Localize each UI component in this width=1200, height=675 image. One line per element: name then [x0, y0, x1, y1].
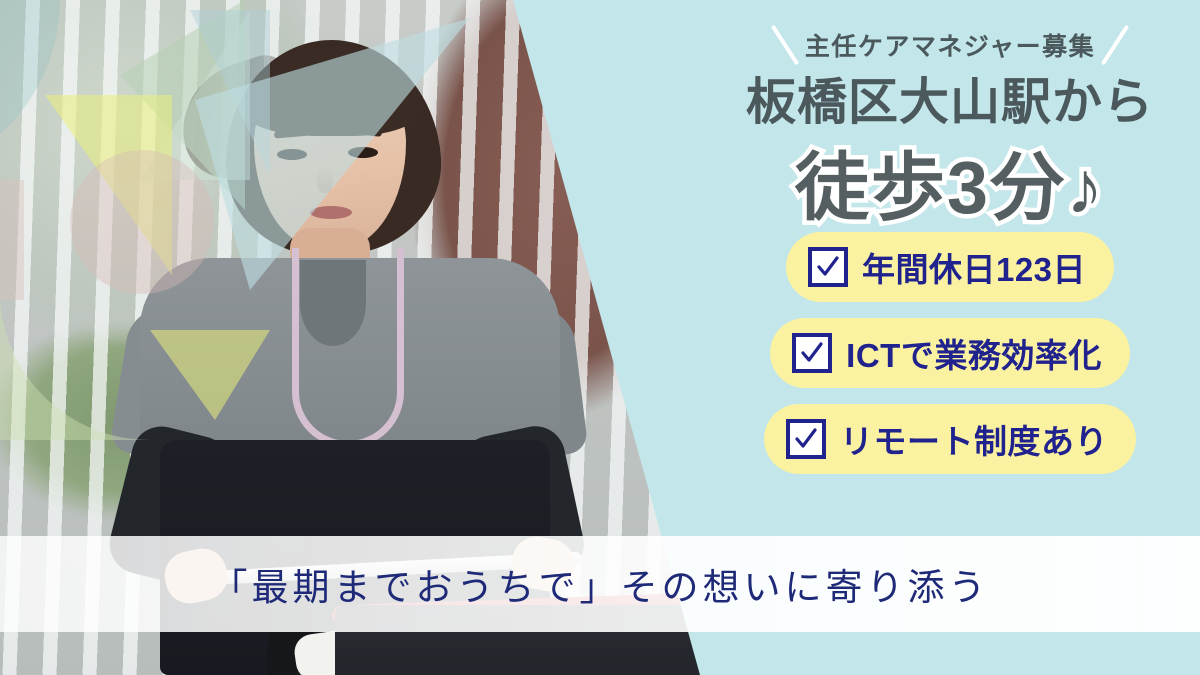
benefit-badge-label: リモート制度あり — [840, 415, 1108, 463]
benefit-badge[interactable]: 年間休日123日 — [786, 232, 1114, 302]
eye-right — [348, 147, 378, 158]
mouth — [310, 206, 352, 219]
eyebrow-text: 主任ケアマネジャー募集 — [805, 27, 1095, 63]
slash-left-icon — [771, 25, 799, 66]
checkbox-checked-icon — [808, 247, 848, 287]
checkbox-checked-icon — [792, 333, 832, 373]
lanyard-cord — [292, 248, 404, 448]
nose — [317, 165, 333, 193]
benefit-badge-label: 年間休日123日 — [862, 243, 1086, 291]
benefit-badge[interactable]: リモート制度あり — [764, 404, 1136, 474]
recruitment-banner: 主任ケアマネジャー募集 板橋区大山駅から 徒歩3分♪ 年間休日123日 — [0, 0, 1200, 675]
slash-right-icon — [1101, 25, 1129, 66]
benefit-badge[interactable]: ICTで業務効率化 — [770, 318, 1130, 388]
tagline-text: 「最期までおうちで」その想いに寄り添う — [211, 557, 990, 611]
headline-line-1: 板橋区大山駅から — [700, 62, 1200, 134]
tagline-band: 「最期までおうちで」その想いに寄り添う — [0, 536, 1200, 632]
content-column: 主任ケアマネジャー募集 板橋区大山駅から 徒歩3分♪ 年間休日123日 — [700, 0, 1200, 540]
benefit-badge-list: 年間休日123日 ICTで業務効率化 リモート制度あり — [740, 232, 1160, 474]
eye-left — [277, 149, 307, 160]
benefit-badge-label: ICTで業務効率化 — [846, 329, 1102, 377]
checkbox-checked-icon — [786, 419, 826, 459]
headline-line-2: 徒歩3分♪ — [700, 128, 1200, 235]
